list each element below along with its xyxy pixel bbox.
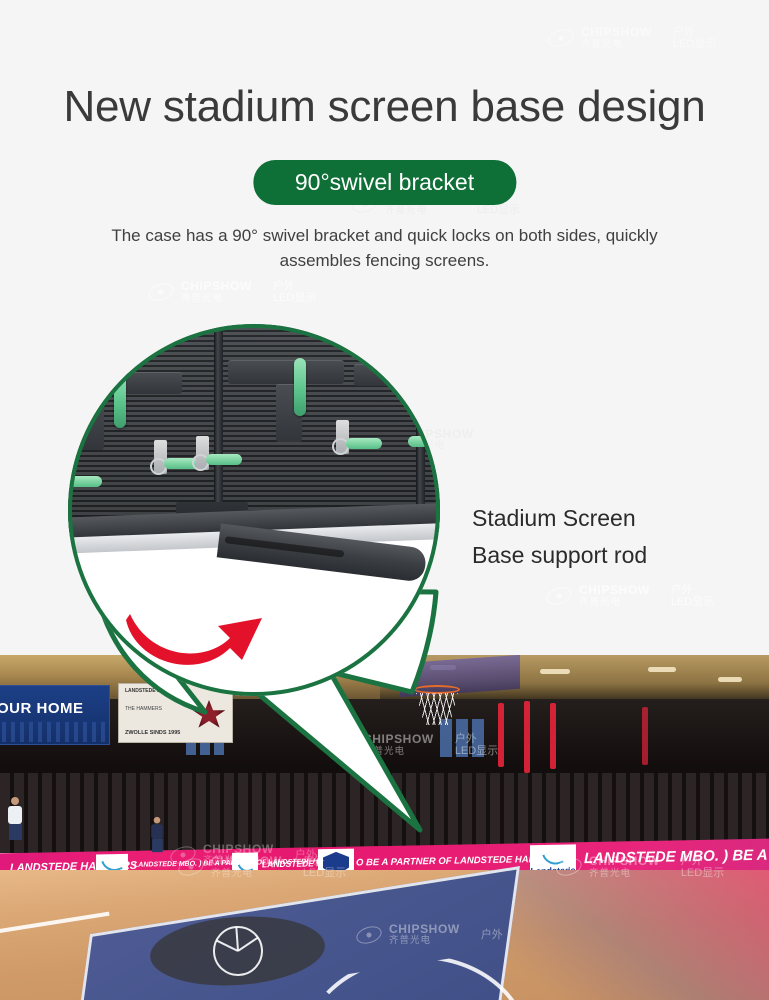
watermark-top-right: CHIPSHOW 齐普光电 户外 LED显示 <box>548 26 716 51</box>
court-reflection <box>489 870 769 1000</box>
page-title: New stadium screen base design <box>0 82 769 132</box>
watermark-brand-en: CHIPSHOW <box>581 26 652 39</box>
caption-line-2: Base support rod <box>472 537 647 574</box>
lock-lever <box>206 454 242 465</box>
promo-page: CHIPSHOW 齐普光电 户外 LED显示 CHIPSHOW 齐普光电 户外 … <box>0 0 769 1000</box>
cabinet-rib <box>228 360 344 384</box>
cabinet-rib <box>80 394 104 450</box>
mercedes-benz-star-icon <box>211 924 264 977</box>
watermark-side-line2: LED显示 <box>477 204 520 216</box>
rotation-arrow-icon <box>126 580 266 666</box>
watermark-side-line1: 户外 <box>673 26 716 38</box>
watermark-side-line2: LED显示 <box>673 38 716 50</box>
heat-sink-fins <box>68 324 440 532</box>
quick-lock <box>336 436 382 452</box>
chipshow-eye-icon <box>546 27 576 50</box>
watermark-side-line1: 户外 <box>273 280 316 292</box>
rotation-arrow-shape <box>126 614 262 665</box>
cabinet-rib <box>354 364 440 386</box>
cabinet-seam <box>416 324 425 532</box>
lock-lever <box>408 436 440 447</box>
closeup-caption: Stadium Screen Base support rod <box>472 500 647 574</box>
green-handle <box>294 358 306 416</box>
cabinet-rib <box>78 372 182 394</box>
feature-badge: 90°swivel bracket <box>253 160 516 205</box>
watermark-brand-en: CHIPSHOW <box>181 280 252 293</box>
cabinet-seam <box>214 324 223 532</box>
led-segment-text: LANDSTEDE MBO. ) BE A PAR <box>584 846 769 867</box>
product-closeup-lens <box>68 324 440 696</box>
quick-lock <box>196 452 242 468</box>
watermark-brand-cn: 齐普光电 <box>581 40 652 51</box>
quick-lock <box>68 474 102 490</box>
lock-lever <box>68 476 102 487</box>
caption-line-1: Stadium Screen <box>472 500 647 537</box>
green-handle <box>114 370 126 428</box>
lock-lever <box>346 438 382 449</box>
page-subtitle: The case has a 90° swivel bracket and qu… <box>75 224 695 273</box>
watermark-brand-cn: 齐普光电 <box>385 206 456 217</box>
quick-lock <box>398 434 440 450</box>
led-cabinet-rear <box>68 324 440 532</box>
